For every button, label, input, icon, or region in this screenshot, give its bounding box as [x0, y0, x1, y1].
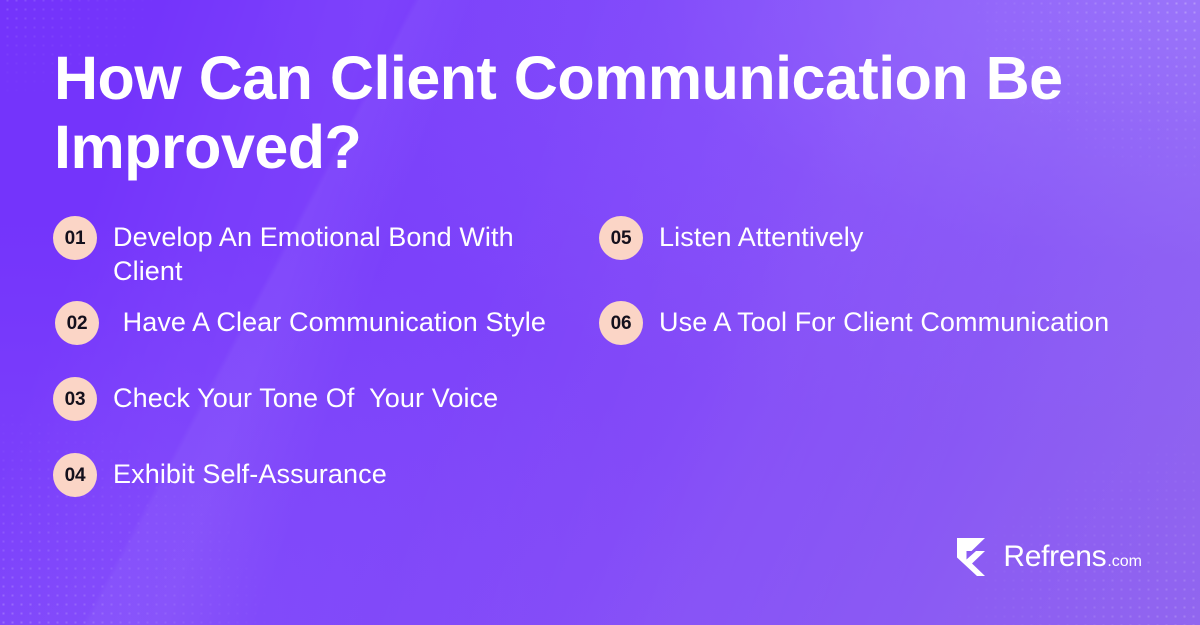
logo-name: Refrens — [1003, 542, 1106, 572]
list-item: 02 Have A Clear Communication Style — [55, 301, 546, 345]
list-item: 06 Use A Tool For Client Communication — [599, 301, 1109, 345]
tips-list: 01 Develop An Emotional Bond With Client… — [0, 0, 1200, 625]
list-item: 01 Develop An Emotional Bond With Client — [53, 216, 573, 288]
logo-tld: .com — [1107, 554, 1142, 570]
poster-canvas: How Can Client Communication Be Improved… — [0, 0, 1200, 625]
list-item-label: Have A Clear Communication Style — [115, 305, 546, 339]
list-item-number-badge: 05 — [599, 216, 643, 260]
list-item-label: Develop An Emotional Bond With Client — [113, 220, 573, 288]
list-item-number-badge: 03 — [53, 377, 97, 421]
list-item-number-badge: 06 — [599, 301, 643, 345]
list-item-number-badge: 02 — [55, 301, 99, 345]
list-item: 05 Listen Attentively — [599, 216, 863, 260]
refrens-logo[interactable]: Refrens.com — [955, 537, 1142, 577]
list-item-label: Check Your Tone Of Your Voice — [113, 381, 498, 415]
list-item-label: Use A Tool For Client Communication — [659, 305, 1109, 339]
list-item: 04 Exhibit Self-Assurance — [53, 453, 387, 497]
refrens-wordmark: Refrens.com — [1003, 542, 1142, 572]
list-item: 03 Check Your Tone Of Your Voice — [53, 377, 498, 421]
list-item-number-badge: 01 — [53, 216, 97, 260]
refrens-r-mark-icon — [955, 537, 993, 577]
list-item-label: Exhibit Self-Assurance — [113, 457, 387, 491]
list-item-label: Listen Attentively — [659, 220, 863, 254]
list-item-number-badge: 04 — [53, 453, 97, 497]
